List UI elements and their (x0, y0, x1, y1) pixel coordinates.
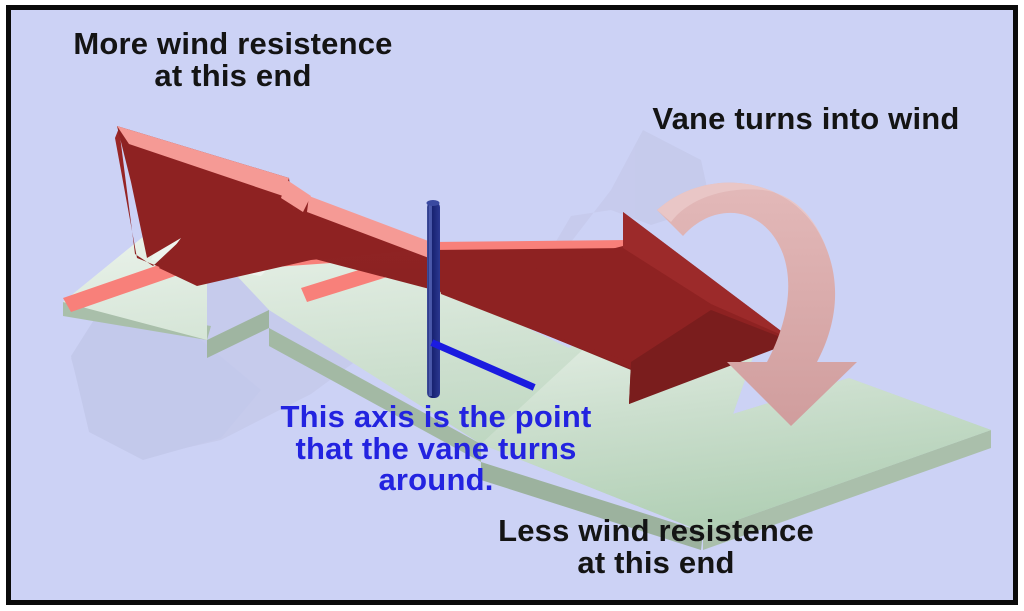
label-less-wind-resistance: Less wind resistence at this end (466, 515, 846, 578)
label-vane-turns-into-wind: Vane turns into wind (611, 103, 1001, 135)
label-axis-note: This axis is the point that the vane tur… (251, 401, 621, 496)
pivot-axis-post (427, 200, 441, 398)
diagram-frame: More wind resistence at this end Vane tu… (0, 0, 1024, 611)
wind-vane-illustration (11, 10, 1013, 600)
diagram-canvas: More wind resistence at this end Vane tu… (11, 10, 1013, 600)
label-more-wind-resistance: More wind resistence at this end (33, 28, 433, 91)
